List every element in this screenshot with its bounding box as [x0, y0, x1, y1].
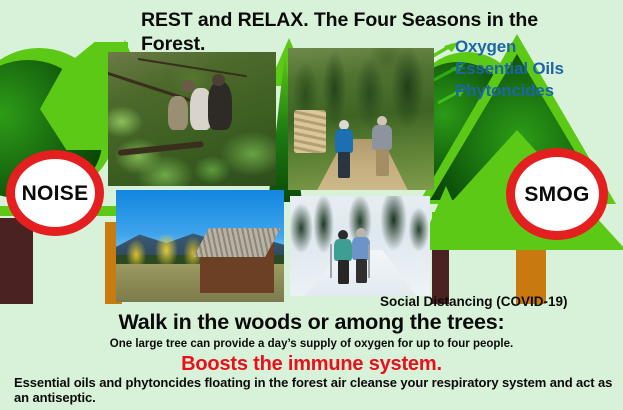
immune-claim-heading: Boosts the immune system. [0, 353, 623, 376]
call-to-action-heading: Walk in the woods or among the trees: [0, 310, 623, 335]
photo-spring [108, 52, 276, 186]
ski-pole [368, 244, 370, 278]
person-torso [335, 129, 353, 153]
photo-autumn [116, 190, 284, 302]
small-tree-icon-right [426, 186, 466, 232]
photo-winter [290, 196, 430, 296]
ski-pole [330, 244, 332, 278]
person-figure [168, 96, 188, 130]
no-smog-sign-label: SMOG [524, 184, 589, 205]
closing-paragraph: Essential oils and phytoncides floating … [14, 375, 614, 406]
person-figure [208, 82, 232, 130]
tree-trunk-left [0, 218, 33, 304]
no-smog-sign: SMOG [506, 148, 608, 240]
oxygen-fact-text: One large tree can provide a day’s suppl… [0, 338, 623, 350]
person-legs [338, 260, 349, 284]
tree-trunk-right [432, 220, 449, 304]
person-head [182, 80, 195, 92]
person-legs [356, 259, 367, 283]
person-torso [372, 125, 392, 150]
no-noise-sign: NOISE [6, 150, 104, 236]
benefit-oxygen: Oxygen [455, 36, 623, 58]
photo-summer [288, 48, 434, 190]
benefit-phytoncides: Phytoncides [455, 80, 623, 102]
photo-summer-woodpile [294, 110, 326, 153]
person-head [212, 74, 225, 86]
poster-canvas: NOISE SMOG REST and RELAX. The Four Seas… [0, 0, 623, 410]
social-distancing-note: Social Distancing (COVID-19) [380, 294, 568, 309]
benefit-essential-oils: Essential Oils [455, 58, 623, 80]
benefits-list: Oxygen Essential Oils Phytoncides [455, 36, 623, 101]
person-torso [334, 239, 352, 261]
person-legs [338, 152, 350, 178]
person-legs [376, 149, 389, 176]
no-noise-sign-label: NOISE [22, 183, 89, 204]
